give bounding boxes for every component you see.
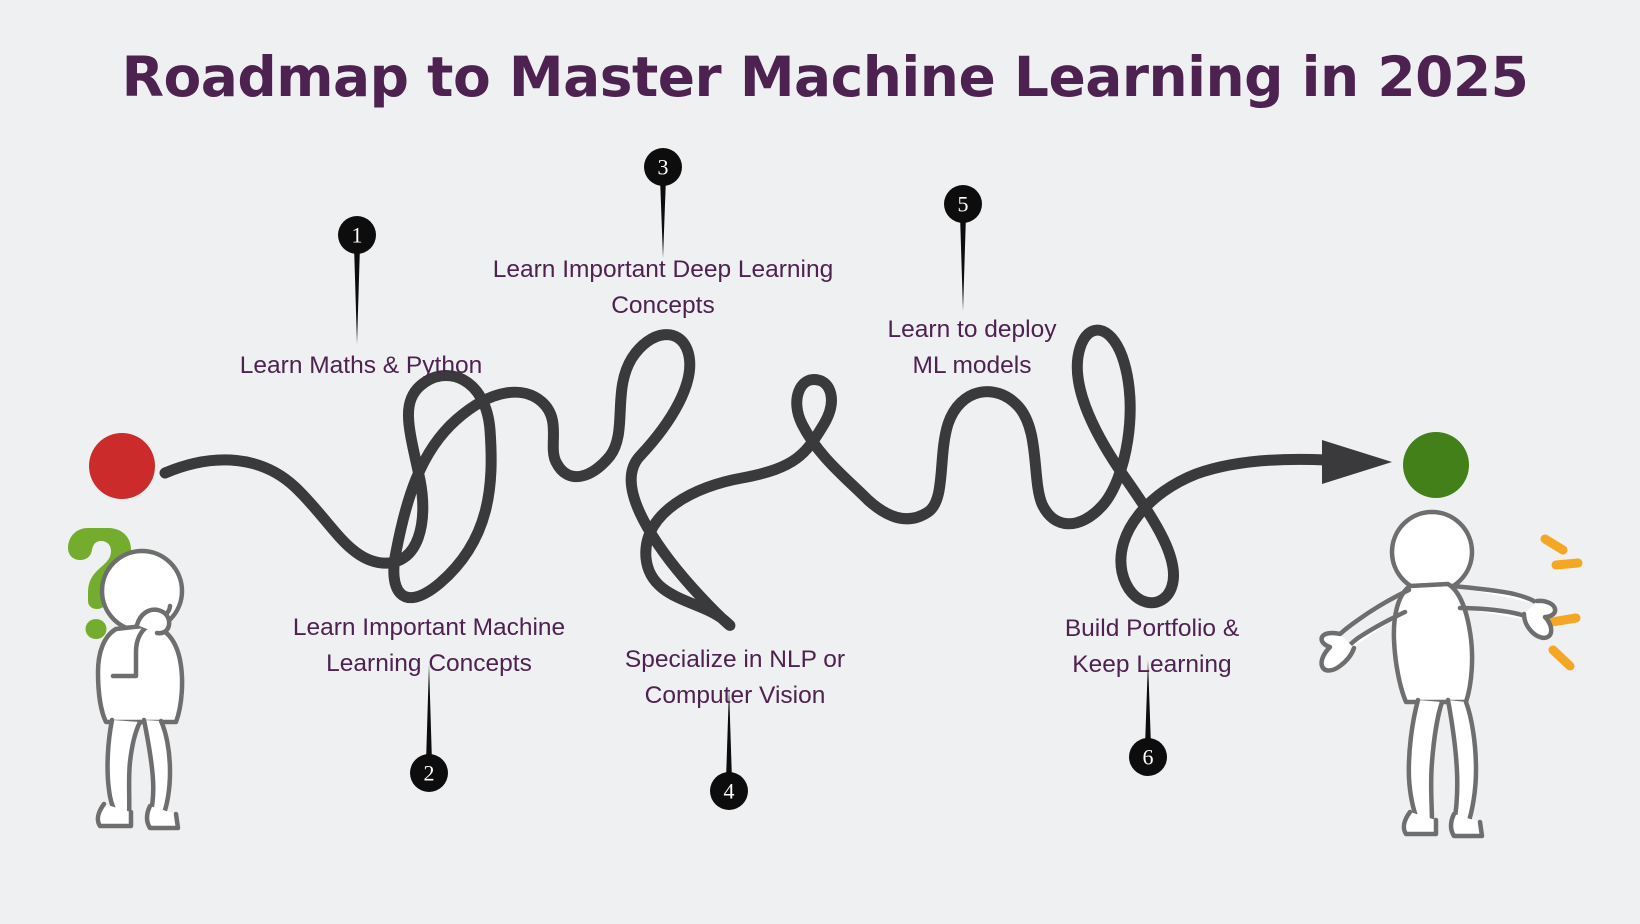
step-label-3: Learn Important Deep Learning Concepts: [493, 252, 834, 324]
pin-needle: [960, 214, 966, 311]
start-dot: [89, 433, 155, 499]
pin-number: 6: [1143, 745, 1154, 770]
pin-number: 2: [424, 761, 435, 786]
celebrating-person: [1322, 512, 1578, 836]
step-label-4: Specialize in NLP or Computer Vision: [625, 642, 845, 714]
step-label-1: Learn Maths & Python: [240, 348, 482, 384]
step-pin-3[interactable]: 3: [644, 148, 682, 258]
roadmap-arrow-head: [1322, 440, 1392, 484]
step-label-5: Learn to deploy ML models: [888, 312, 1057, 384]
roadmap-illustration: 123456: [0, 0, 1640, 924]
step-label-2: Learn Important Machine Learning Concept…: [293, 610, 565, 682]
pin-number: 1: [352, 223, 363, 248]
end-dot: [1403, 432, 1469, 498]
pin-number: 5: [958, 192, 969, 217]
step-pin-1[interactable]: 1: [338, 216, 376, 344]
pin-number: 4: [724, 779, 735, 804]
infographic-canvas: Roadmap to Master Machine Learning in 20…: [0, 0, 1640, 924]
step-pin-2[interactable]: 2: [410, 664, 448, 792]
step-pin-5[interactable]: 5: [944, 185, 982, 311]
thinking-person: [68, 528, 182, 828]
pin-needle: [354, 245, 360, 344]
pin-number: 3: [658, 155, 669, 180]
celebrating-person-body: [1322, 512, 1556, 836]
thinking-person-body: [98, 551, 182, 828]
pin-needle: [660, 177, 666, 258]
step-label-6: Build Portfolio & Keep Learning: [1065, 611, 1239, 683]
